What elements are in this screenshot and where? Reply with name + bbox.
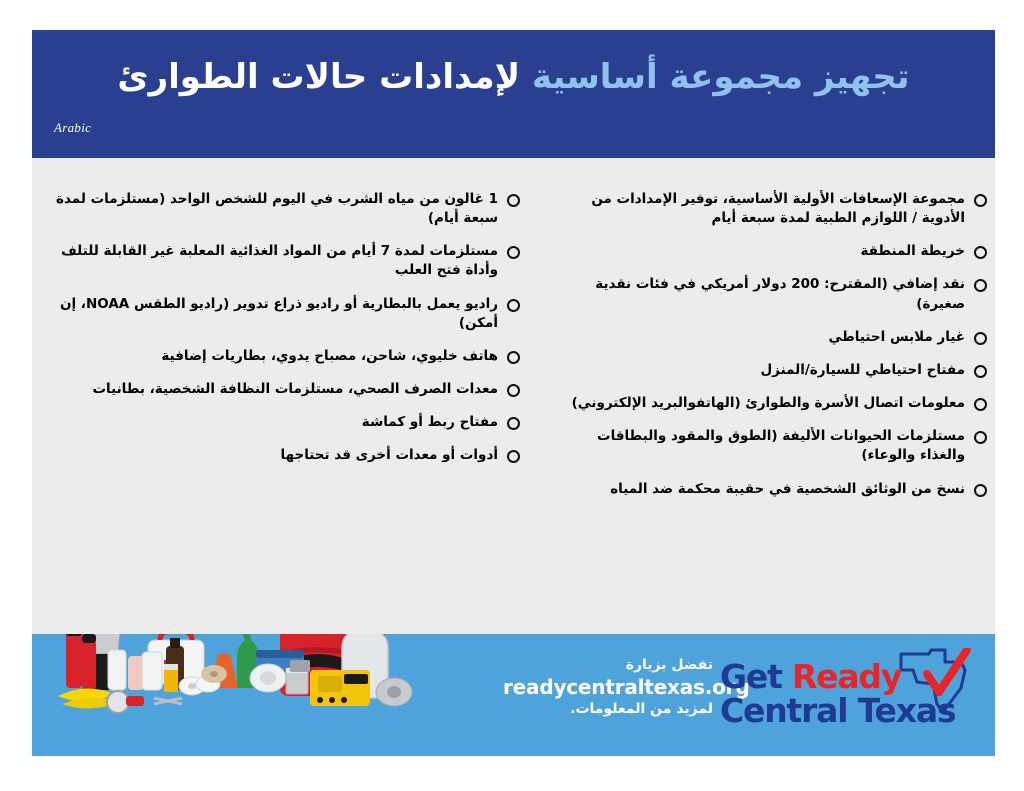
poster: تجهيز مجموعة أساسية لإمدادات حالات الطوا… bbox=[32, 30, 995, 756]
list-item-label: مستلزمات لمدة 7 أيام من المواد الغذائية … bbox=[40, 242, 498, 280]
checkbox-circle-icon[interactable] bbox=[974, 279, 987, 292]
list-item: راديو يعمل بالبطارية أو راديو ذراع تدوير… bbox=[40, 295, 520, 333]
checkbox-circle-icon[interactable] bbox=[974, 484, 987, 497]
visit-suffix-text: لمزيد من المعلومات. bbox=[503, 700, 713, 718]
checkbox-circle-icon[interactable] bbox=[507, 351, 520, 364]
checklist-column-left: 1 غالون من مياه الشرب في اليوم للشخص الو… bbox=[40, 190, 520, 480]
list-item-label: غيار ملابس احتياطي bbox=[557, 328, 965, 347]
checkbox-circle-icon[interactable] bbox=[974, 398, 987, 411]
website-url[interactable]: readycentraltexas.org bbox=[503, 674, 713, 700]
list-item-label: معدات الصرف الصحي، مستلزمات النظافة الشخ… bbox=[40, 380, 498, 399]
list-item: مستلزمات الحيوانات الأليفة (الطوق والمقو… bbox=[557, 427, 987, 465]
list-item: نسخ من الوثائق الشخصية في حقيبة محكمة ضد… bbox=[557, 480, 987, 499]
checkbox-circle-icon[interactable] bbox=[974, 246, 987, 259]
list-item-label: مفتاح ربط أو كماشة bbox=[40, 413, 498, 432]
list-item: هاتف خليوي، شاحن، مصباح يدوي، بطاريات إض… bbox=[40, 347, 520, 366]
list-item-label: هاتف خليوي، شاحن، مصباح يدوي، بطاريات إض… bbox=[40, 347, 498, 366]
list-item: غيار ملابس احتياطي bbox=[557, 328, 987, 347]
get-ready-central-texas-logo[interactable]: Get Ready Central Texas bbox=[718, 646, 983, 742]
checkbox-circle-icon[interactable] bbox=[507, 299, 520, 312]
list-item-label: نسخ من الوثائق الشخصية في حقيبة محكمة ضد… bbox=[557, 480, 965, 499]
checklist-area: مجموعة الإسعافات الأولية الأساسية، توفير… bbox=[32, 158, 995, 634]
list-item: نقد إضافي (المقترح: 200 دولار أمريكي في … bbox=[557, 275, 987, 313]
checkbox-circle-icon[interactable] bbox=[507, 246, 520, 259]
list-item-label: مستلزمات الحيوانات الأليفة (الطوق والمقو… bbox=[557, 427, 965, 465]
list-item: معلومات اتصال الأسرة والطوارئ (الهاتفوال… bbox=[557, 394, 987, 413]
list-item-label: نقد إضافي (المقترح: 200 دولار أمريكي في … bbox=[557, 275, 965, 313]
list-item: خريطة المنطقة bbox=[557, 242, 987, 261]
checkbox-circle-icon[interactable] bbox=[974, 332, 987, 345]
list-item-label: راديو يعمل بالبطارية أو راديو ذراع تدوير… bbox=[40, 295, 498, 333]
list-item-label: أدوات أو معدات أخرى قد تحتاجها bbox=[40, 446, 498, 465]
logo-word-texas: Texas bbox=[858, 691, 956, 730]
list-item-label: 1 غالون من مياه الشرب في اليوم للشخص الو… bbox=[40, 190, 498, 228]
list-item-label: خريطة المنطقة bbox=[557, 242, 965, 261]
list-item-label: مجموعة الإسعافات الأولية الأساسية، توفير… bbox=[557, 190, 965, 228]
emergency-supplies-photo bbox=[42, 634, 442, 756]
visit-prefix-text: تفضل بزيارة bbox=[503, 656, 713, 674]
page-title: تجهيز مجموعة أساسية لإمدادات حالات الطوا… bbox=[32, 56, 995, 99]
bottom-banner: تفضل بزيارة readycentraltexas.org لمزيد … bbox=[32, 634, 995, 756]
logo-line-two: Central Texas bbox=[720, 694, 955, 728]
checkbox-circle-icon[interactable] bbox=[507, 384, 520, 397]
checkbox-circle-icon[interactable] bbox=[974, 431, 987, 444]
list-item: مفتاح ربط أو كماشة bbox=[40, 413, 520, 432]
list-item: معدات الصرف الصحي، مستلزمات النظافة الشخ… bbox=[40, 380, 520, 399]
list-item: مجموعة الإسعافات الأولية الأساسية، توفير… bbox=[557, 190, 987, 228]
checkbox-circle-icon[interactable] bbox=[507, 194, 520, 207]
checkbox-circle-icon[interactable] bbox=[974, 365, 987, 378]
visit-info: تفضل بزيارة readycentraltexas.org لمزيد … bbox=[503, 656, 713, 718]
list-item: أدوات أو معدات أخرى قد تحتاجها bbox=[40, 446, 520, 465]
title-accent-part: تجهيز مجموعة أساسية bbox=[532, 57, 910, 97]
list-item: مفتاح احتياطي للسيارة/المنزل bbox=[557, 361, 987, 380]
checkbox-circle-icon[interactable] bbox=[507, 417, 520, 430]
checkbox-circle-icon[interactable] bbox=[507, 450, 520, 463]
poster-header: تجهيز مجموعة أساسية لإمدادات حالات الطوا… bbox=[32, 30, 995, 158]
checkbox-circle-icon[interactable] bbox=[974, 194, 987, 207]
list-item-label: مفتاح احتياطي للسيارة/المنزل bbox=[557, 361, 965, 380]
list-item: مستلزمات لمدة 7 أيام من المواد الغذائية … bbox=[40, 242, 520, 280]
list-item: 1 غالون من مياه الشرب في اليوم للشخص الو… bbox=[40, 190, 520, 228]
logo-line-one: Get Ready bbox=[720, 660, 901, 694]
title-plain-part: لإمدادات حالات الطوارئ bbox=[117, 57, 520, 97]
language-label: Arabic bbox=[54, 120, 91, 136]
logo-word-central: Central bbox=[720, 691, 847, 730]
list-item-label: معلومات اتصال الأسرة والطوارئ (الهاتفوال… bbox=[557, 394, 965, 413]
checklist-column-right: مجموعة الإسعافات الأولية الأساسية، توفير… bbox=[557, 190, 987, 513]
